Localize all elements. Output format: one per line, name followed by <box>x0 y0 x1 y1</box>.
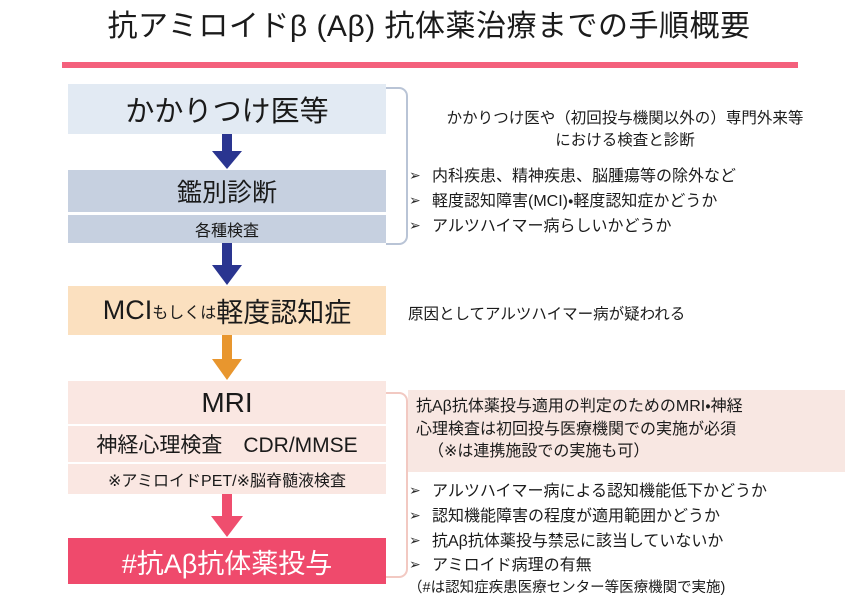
list-item: ➢ 内科疾患、精神疾患、脳腫瘍等の除外など <box>408 165 848 190</box>
flow-box-primary-care[interactable]: かかりつけ医等 <box>68 84 386 134</box>
flow-arrow-3 <box>68 335 386 381</box>
flow-box-neuropsych-test-label: 神経心理検査 CDR/MMSE <box>96 429 357 459</box>
list-item: ➢ アルツハイマー病による認知機能低下かどうか <box>408 480 848 505</box>
flow-box-mci-label-tail: 軽度認知症 <box>216 291 351 330</box>
list-item: ➢ アミロイド病理の有無 <box>408 554 848 579</box>
mri-requirement-note-line-3: （※は連携施設での実施も可） <box>416 441 837 464</box>
list-item-label: アミロイド病理の有無 <box>432 557 592 574</box>
list-item: ➢ 抗Aβ抗体薬投与禁忌に該当していないか <box>408 530 848 555</box>
flowchart-column: かかりつけ医等 鑑別診断 各種検査 MCIもしくは軽度認知症 MRI 神経心理検… <box>68 84 386 584</box>
list-item-label: アルツハイマー病らしいかどうか <box>432 218 672 235</box>
mri-requirement-note-line-1: 抗Aβ抗体薬投与適用の判定のためのMRI・神経 <box>416 396 837 419</box>
arrow-bullet-icon: ➢ <box>409 165 421 187</box>
screening-caption-line-1: かかりつけ医や（初回投与機関以外の）専門外来等 <box>408 108 842 130</box>
flow-box-mci[interactable]: MCIもしくは軽度認知症 <box>68 286 386 335</box>
bracket-screening-group <box>386 87 408 245</box>
page-title: 抗アミロイドβ (Aβ) 抗体薬治療までの手順概要 <box>0 8 858 46</box>
administration-footnote: （#は認知症疾患医療センター等医療機関で実施) <box>408 578 725 598</box>
list-item-label: アルツハイマー病による認知機能低下かどうか <box>432 483 767 500</box>
list-item-label: 認知機能障害の程度が適用範囲かどうか <box>432 508 720 525</box>
flow-box-mri-label: MRI <box>201 387 252 419</box>
list-item: ➢ 認知機能障害の程度が適用範囲かどうか <box>408 505 848 530</box>
flow-box-differential-diagnosis[interactable]: 鑑別診断 <box>68 170 386 212</box>
bracket-workup-group <box>386 392 408 578</box>
flow-box-differential-diagnosis-label: 鑑別診断 <box>177 173 277 209</box>
mci-caption: 原因としてアルツハイマー病が疑われる <box>408 304 842 326</box>
arrow-bullet-icon: ➢ <box>409 505 421 527</box>
list-item: ➢ 軽度認知障害(MCI)・軽度認知症かどうか <box>408 190 848 215</box>
flow-box-pet-csf-test[interactable]: ※アミロイドPET/※脳脊髄液検査 <box>68 464 386 494</box>
flow-arrow-4 <box>68 494 386 538</box>
flow-box-various-tests-label: 各種検査 <box>195 217 259 241</box>
list-item-label: 軽度認知障害(MCI)・軽度認知症かどうか <box>432 193 717 210</box>
list-item-label: 抗Aβ抗体薬投与禁忌に該当していないか <box>432 533 723 550</box>
page-header: 抗アミロイドβ (Aβ) 抗体薬治療までの手順概要 <box>0 8 858 46</box>
arrow-bullet-icon: ➢ <box>409 554 421 576</box>
arrow-bullet-icon: ➢ <box>409 215 421 237</box>
flow-box-pet-csf-test-label: ※アミロイドPET/※脳脊髄液検査 <box>108 467 346 491</box>
arrow-bullet-icon: ➢ <box>409 480 421 502</box>
flow-box-antibody-administration[interactable]: #抗Aβ抗体薬投与 <box>68 538 386 584</box>
flow-box-neuropsych-test[interactable]: 神経心理検査 CDR/MMSE <box>68 426 386 462</box>
flow-box-various-tests[interactable]: 各種検査 <box>68 215 386 243</box>
flow-box-mri[interactable]: MRI <box>68 381 386 424</box>
list-item: ➢ アルツハイマー病らしいかどうか <box>408 215 848 240</box>
screening-caption: かかりつけ医や（初回投与機関以外の）専門外来等 における検査と診断 <box>408 108 842 153</box>
flow-box-primary-care-label: かかりつけ医等 <box>125 88 328 130</box>
flow-arrow-2 <box>68 243 386 286</box>
screening-bullet-list: ➢ 内科疾患、精神疾患、脳腫瘍等の除外など ➢ 軽度認知障害(MCI)・軽度認知… <box>408 165 848 239</box>
flow-box-mci-label-main: MCI <box>103 295 153 326</box>
flow-box-mci-label-small: もしくは <box>152 299 216 323</box>
arrow-bullet-icon: ➢ <box>409 190 421 212</box>
list-item-label: 内科疾患、精神疾患、脳腫瘍等の除外など <box>432 168 736 185</box>
flow-arrow-1 <box>68 134 386 170</box>
title-underline-rule <box>62 62 798 68</box>
mci-caption-text: 原因としてアルツハイマー病が疑われる <box>408 304 842 326</box>
mri-requirement-note-line-2: 心理検査は初回投与医療機関での実施が必須 <box>416 419 837 442</box>
eligibility-bullet-list: ➢ アルツハイマー病による認知機能低下かどうか ➢ 認知機能障害の程度が適用範囲… <box>408 480 848 579</box>
flow-box-antibody-administration-label: #抗Aβ抗体薬投与 <box>122 542 333 581</box>
mri-requirement-note: 抗Aβ抗体薬投与適用の判定のためのMRI・神経 心理検査は初回投与医療機関での実… <box>408 390 845 472</box>
screening-caption-line-2: における検査と診断 <box>408 130 842 152</box>
arrow-bullet-icon: ➢ <box>409 530 421 552</box>
